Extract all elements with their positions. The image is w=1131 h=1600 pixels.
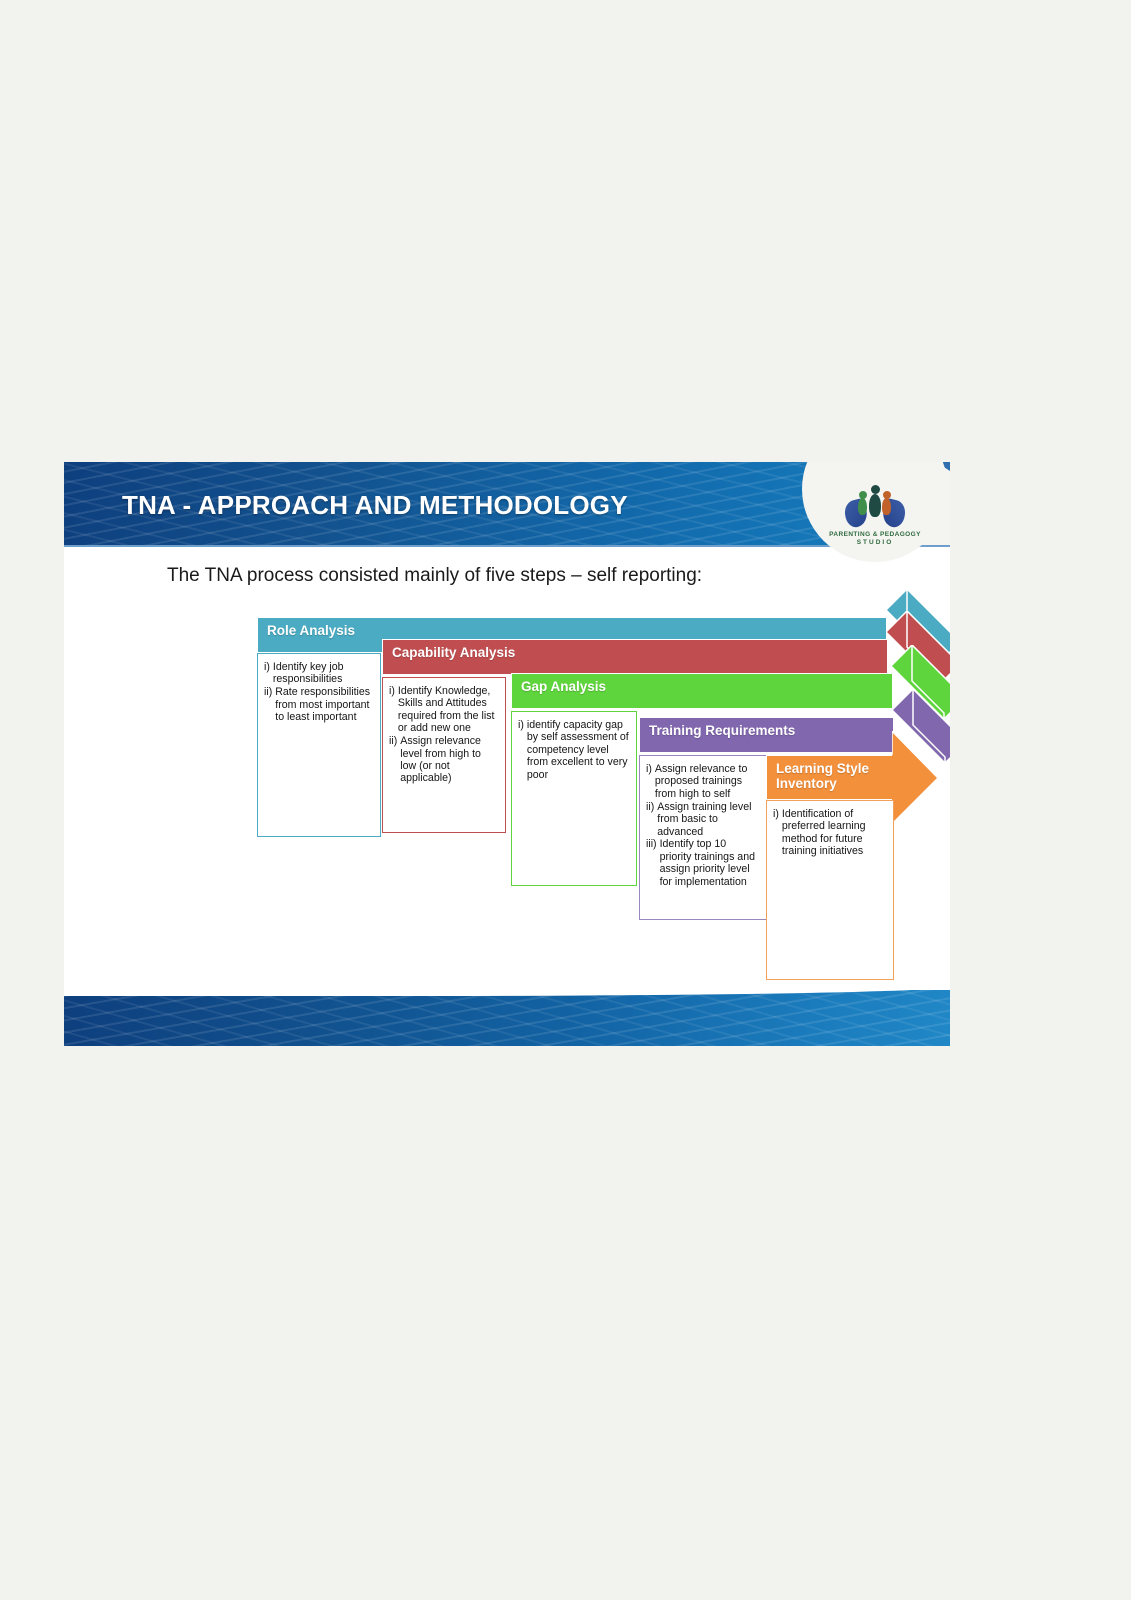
step-title: Training Requirements — [649, 723, 795, 738]
step-banner: Capability Analysis — [382, 639, 888, 675]
list-item: i)identify capacity gap by self assessme… — [518, 719, 630, 781]
step-title: Gap Analysis — [521, 679, 606, 694]
list-item: i)Identify Knowledge, Skills and Attitud… — [389, 685, 499, 735]
step-title: Learning Style Inventory — [776, 761, 869, 791]
step-banner: Training Requirements — [639, 717, 894, 753]
step-item-list: i)Identify key job responsibilities ii)R… — [258, 654, 380, 724]
step-title: Capability Analysis — [392, 645, 515, 660]
process-steps-diagram: Role Analysis i)Identify key job respons… — [64, 462, 950, 1046]
step-body: i)Identify key job responsibilities ii)R… — [257, 653, 381, 837]
list-item: ii)Assign training level from basic to a… — [646, 801, 760, 838]
step-banner: Learning Style Inventory — [766, 755, 894, 800]
list-item: i)Identify key job responsibilities — [264, 661, 374, 686]
presentation-slide: TNA - APPROACH AND METHODOLOGY PARENTING… — [64, 462, 950, 1046]
step-item-list: i)Identify Knowledge, Skills and Attitud… — [383, 678, 505, 785]
list-item: iii)Identify top 10 priority trainings a… — [646, 838, 760, 888]
list-item: ii)Assign relevance level from high to l… — [389, 735, 499, 785]
step-title: Role Analysis — [267, 623, 355, 638]
step-item-list: i)Assign relevance to proposed trainings… — [640, 756, 766, 888]
step-banner: Gap Analysis — [511, 673, 893, 709]
step-item-list: i)identify capacity gap by self assessme… — [512, 712, 636, 781]
step-body: i)Identification of preferred learning m… — [766, 800, 894, 980]
step-arrow-icon — [892, 731, 950, 841]
step-body: i)identify capacity gap by self assessme… — [511, 711, 637, 886]
list-item: i)Assign relevance to proposed trainings… — [646, 763, 760, 800]
step-item-list: i)Identification of preferred learning m… — [767, 801, 893, 858]
list-item: i)Identification of preferred learning m… — [773, 808, 887, 858]
list-item: ii)Rate responsibilities from most impor… — [264, 686, 374, 723]
step-body: i)Assign relevance to proposed trainings… — [639, 755, 767, 920]
step-body: i)Identify Knowledge, Skills and Attitud… — [382, 677, 506, 833]
slide-footer-band — [64, 990, 950, 1046]
footer-background-pattern — [64, 990, 950, 1046]
